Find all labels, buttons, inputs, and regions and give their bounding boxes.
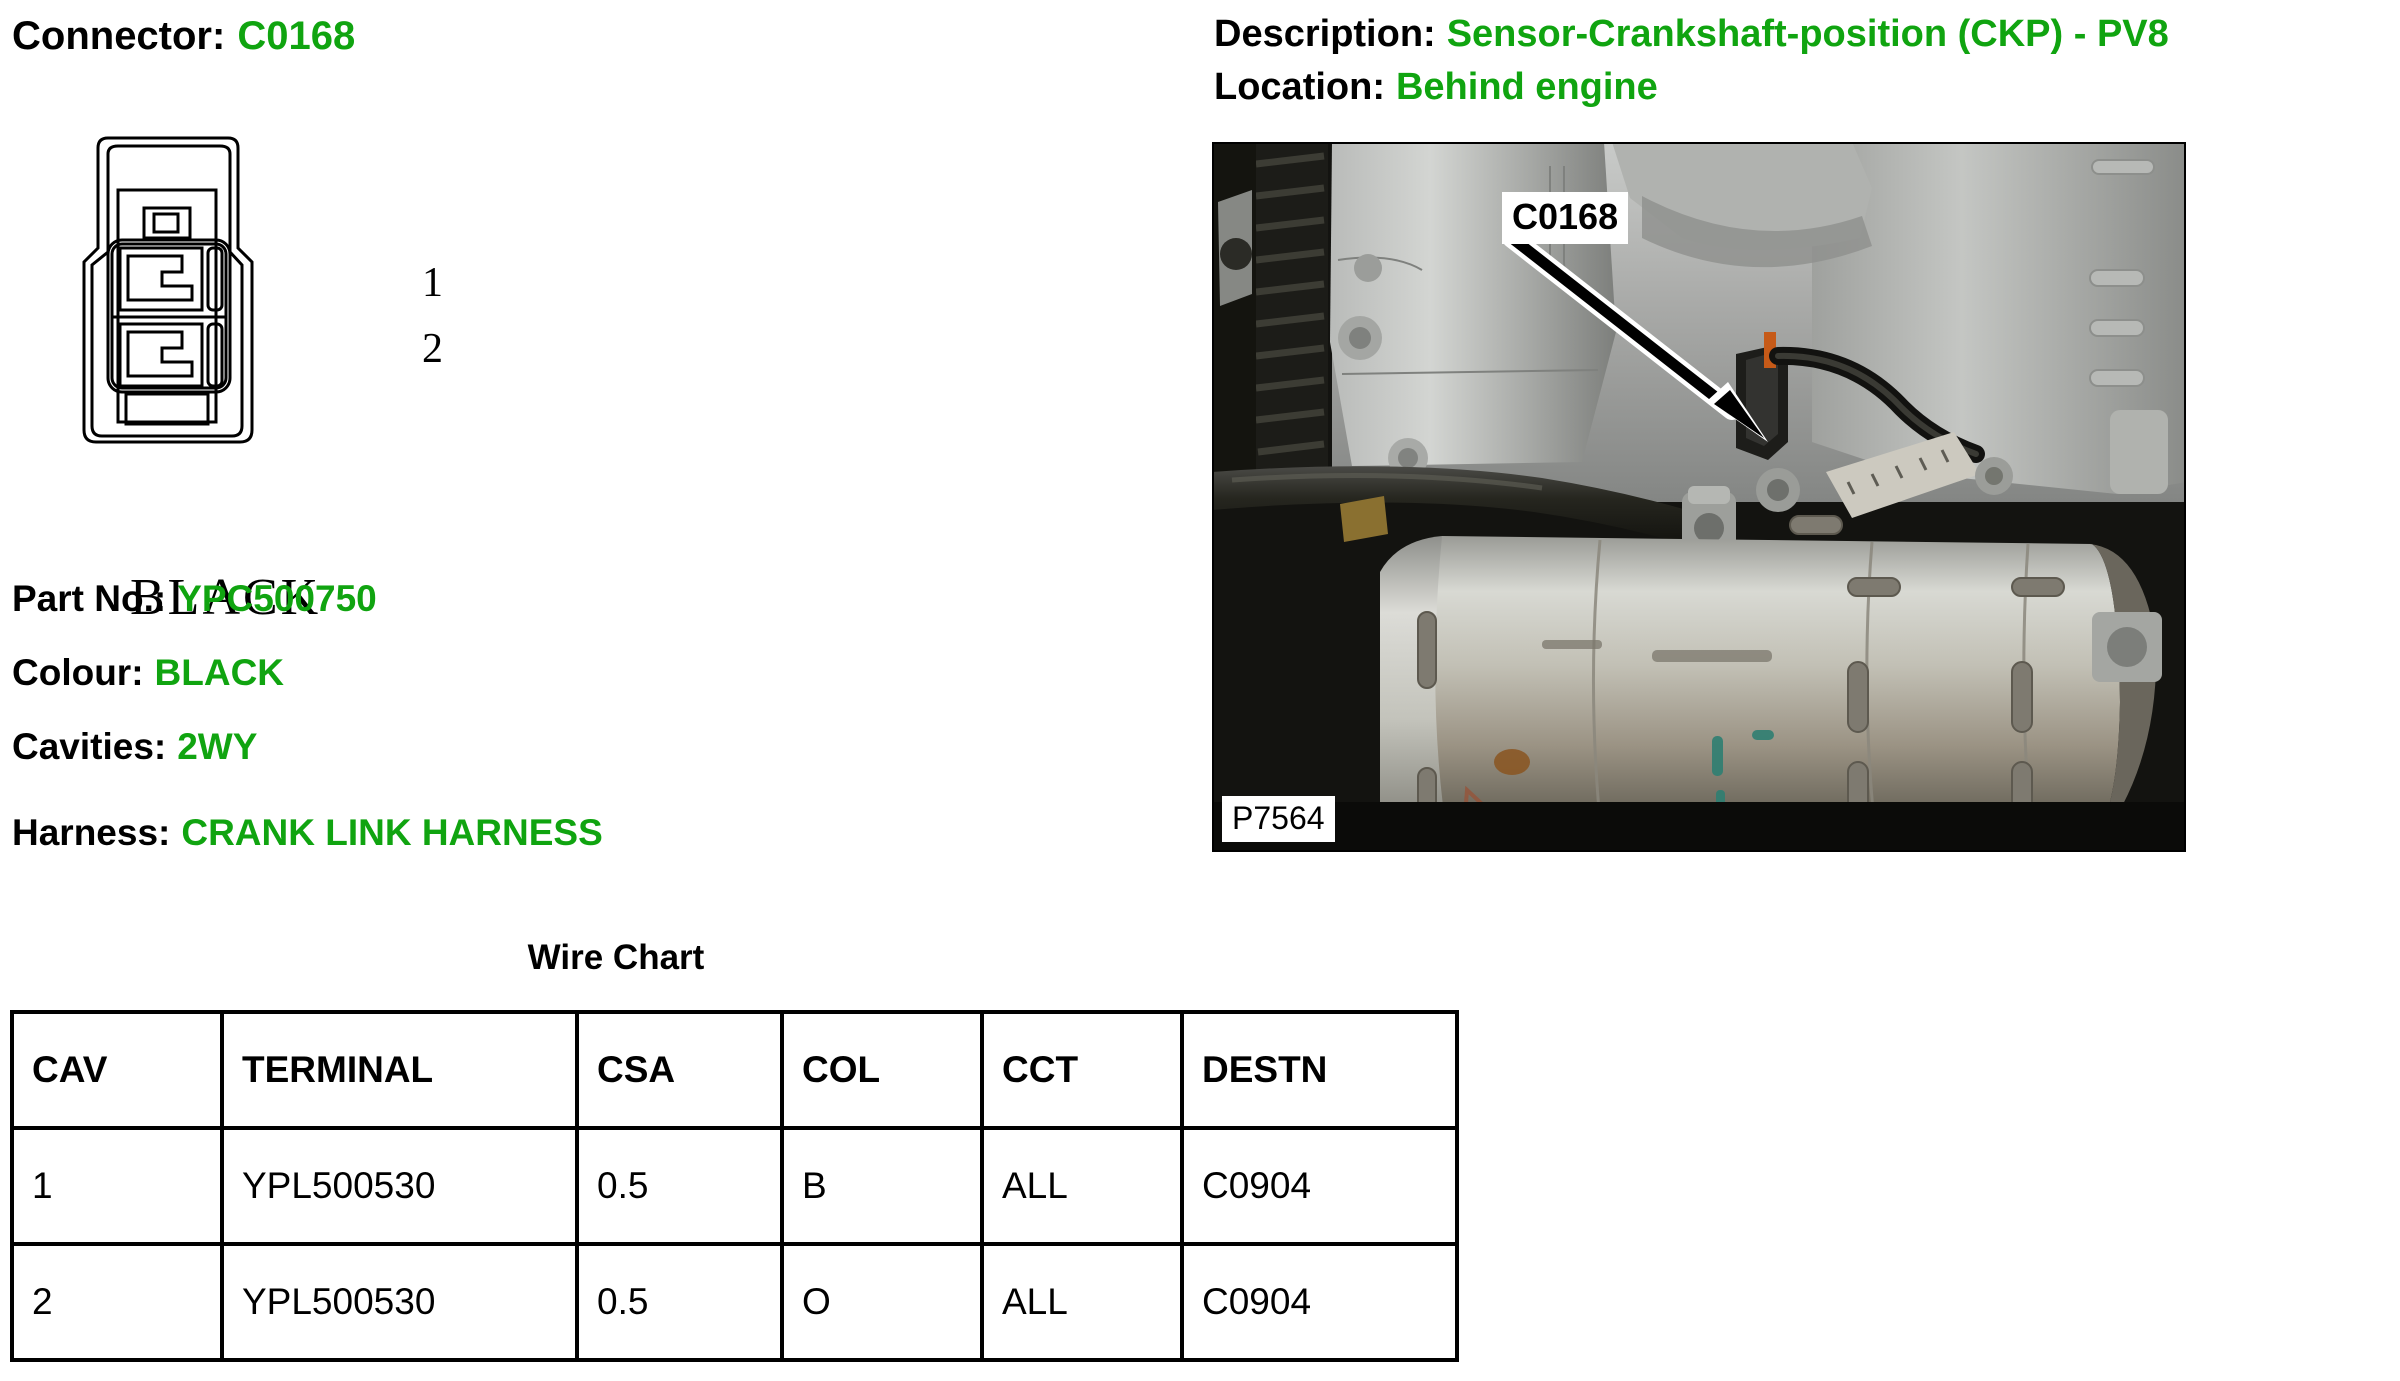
cell-destn: C0904 — [1182, 1128, 1457, 1244]
cell-csa: 0.5 — [577, 1244, 782, 1360]
spec-row-harness: Harness: CRANK LINK HARNESS — [12, 812, 603, 886]
harness-value: CRANK LINK HARNESS — [181, 812, 602, 854]
wire-chart-table: CAV TERMINAL CSA COL CCT DESTN 1 YPL5005… — [10, 1010, 1459, 1362]
pin-number-list: 1 2 — [422, 250, 443, 382]
spec-row-part-no: Part No.: YPC500750 — [12, 578, 603, 652]
cell-cav: 1 — [12, 1128, 222, 1244]
part-no-label: Part No.: — [12, 578, 166, 620]
connector-spec-list: Part No.: YPC500750 Colour: BLACK Caviti… — [12, 578, 603, 886]
column-header-col: COL — [782, 1012, 982, 1128]
colour-label: Colour: — [12, 652, 144, 694]
cell-col: O — [782, 1244, 982, 1360]
location-label: Location: — [1214, 61, 1385, 114]
engine-bay-photo-image — [1212, 142, 2186, 852]
cell-csa: 0.5 — [577, 1128, 782, 1244]
column-header-terminal: TERMINAL — [222, 1012, 577, 1128]
colour-value: BLACK — [155, 652, 284, 694]
cell-cct: ALL — [982, 1128, 1182, 1244]
connector-label: Connector: — [12, 12, 225, 60]
part-no-value: YPC500750 — [177, 578, 377, 620]
cavities-value: 2WY — [177, 726, 257, 768]
spec-row-colour: Colour: BLACK — [12, 652, 603, 726]
location-value: Behind engine — [1396, 61, 1658, 114]
table-row: 1 YPL500530 0.5 B ALL C0904 — [12, 1128, 1457, 1244]
photo-id-badge: P7564 — [1222, 796, 1335, 842]
table-row: 2 YPL500530 0.5 O ALL C0904 — [12, 1244, 1457, 1360]
description-row: Description: Sensor-Crankshaft-position … — [1214, 8, 2169, 61]
connector-value: C0168 — [237, 12, 355, 60]
spec-row-cavities: Cavities: 2WY — [12, 726, 603, 800]
column-header-cct: CCT — [982, 1012, 1182, 1128]
cell-destn: C0904 — [1182, 1244, 1457, 1360]
location-row: Location: Behind engine — [1214, 61, 2169, 114]
cell-col: B — [782, 1128, 982, 1244]
connector-housing-icon — [70, 128, 410, 508]
description-label: Description: — [1214, 8, 1436, 61]
column-header-cav: CAV — [12, 1012, 222, 1128]
wire-chart-title: Wire Chart — [0, 938, 1232, 978]
description-location-block: Description: Sensor-Crankshaft-position … — [1214, 8, 2169, 114]
pin-number-1: 1 — [422, 250, 443, 316]
column-header-csa: CSA — [577, 1012, 782, 1128]
cavities-label: Cavities: — [12, 726, 166, 768]
cell-terminal: YPL500530 — [222, 1128, 577, 1244]
photo-callout-label: C0168 — [1502, 192, 1628, 244]
connector-header: Connector: C0168 — [12, 12, 355, 60]
connector-face-diagram: 1 2 BLACK — [70, 128, 410, 508]
cell-terminal: YPL500530 — [222, 1244, 577, 1360]
description-value: Sensor-Crankshaft-position (CKP) - PV8 — [1447, 8, 2169, 61]
column-header-destn: DESTN — [1182, 1012, 1457, 1128]
harness-label: Harness: — [12, 812, 170, 854]
pin-number-2: 2 — [422, 316, 443, 382]
table-header-row: CAV TERMINAL CSA COL CCT DESTN — [12, 1012, 1457, 1128]
connector-location-photo: C0168 P7564 — [1212, 142, 2186, 852]
cell-cav: 2 — [12, 1244, 222, 1360]
cell-cct: ALL — [982, 1244, 1182, 1360]
